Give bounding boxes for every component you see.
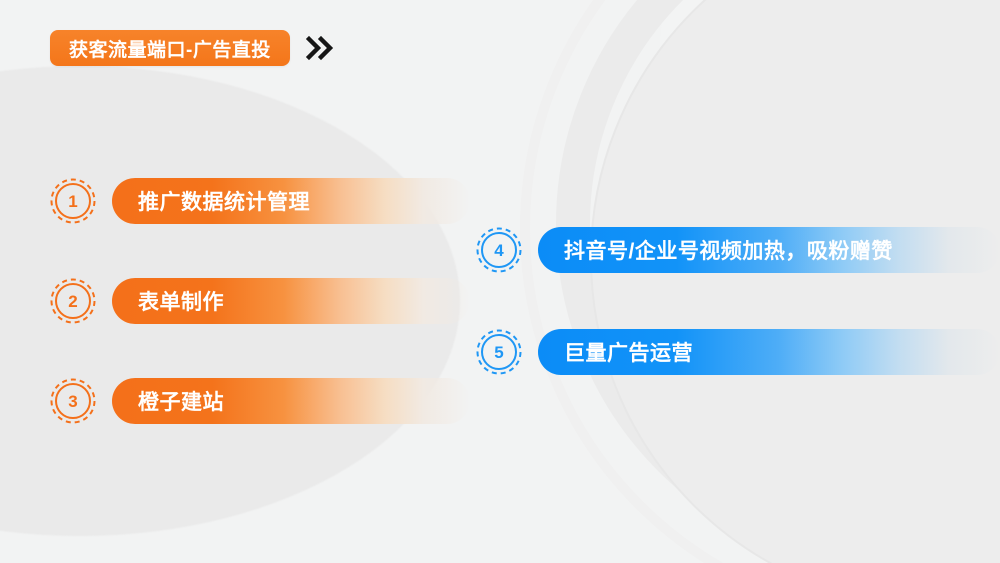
background-disc-right (590, 0, 1000, 563)
step-number: 2 (50, 278, 96, 324)
step-number: 5 (476, 329, 522, 375)
item-pill[interactable]: 推广数据统计管理 (112, 178, 470, 224)
list-item-label: 推广数据统计管理 (112, 186, 310, 216)
double-chevron-right-icon (306, 35, 336, 61)
item-pill[interactable]: 表单制作 (112, 278, 470, 324)
step-number: 3 (50, 378, 96, 424)
background-ring-outer (520, 0, 1000, 563)
list-item[interactable]: 3 橙子建站 (50, 378, 470, 424)
item-pill[interactable]: 橙子建站 (112, 378, 470, 424)
background-ring-right (556, 0, 1000, 563)
step-badge: 2 (50, 278, 96, 324)
page-title-pill: 获客流量端口-广告直投 (50, 30, 290, 66)
step-number: 4 (476, 227, 522, 273)
step-number: 1 (50, 178, 96, 224)
step-badge: 1 (50, 178, 96, 224)
item-pill[interactable]: 抖音号/企业号视频加热，吸粉赠赞 (538, 227, 1000, 273)
slide-canvas: 获客流量端口-广告直投 1 推广数据统计管理 (0, 0, 1000, 563)
list-item-label: 表单制作 (112, 286, 224, 316)
step-badge: 5 (476, 329, 522, 375)
list-item[interactable]: 2 表单制作 (50, 278, 470, 324)
list-item[interactable]: 5 巨量广告运营 (476, 329, 1000, 375)
item-pill[interactable]: 巨量广告运营 (538, 329, 1000, 375)
list-item-label: 巨量广告运营 (538, 337, 693, 367)
list-item[interactable]: 4 抖音号/企业号视频加热，吸粉赠赞 (476, 227, 1000, 273)
step-badge: 3 (50, 378, 96, 424)
list-item[interactable]: 1 推广数据统计管理 (50, 178, 470, 224)
page-title: 获客流量端口-广告直投 (69, 35, 271, 62)
list-item-label: 橙子建站 (112, 386, 224, 416)
list-item-label: 抖音号/企业号视频加热，吸粉赠赞 (538, 235, 893, 265)
background-blob-top-right (660, 0, 1000, 210)
step-badge: 4 (476, 227, 522, 273)
header: 获客流量端口-广告直投 (50, 30, 336, 66)
